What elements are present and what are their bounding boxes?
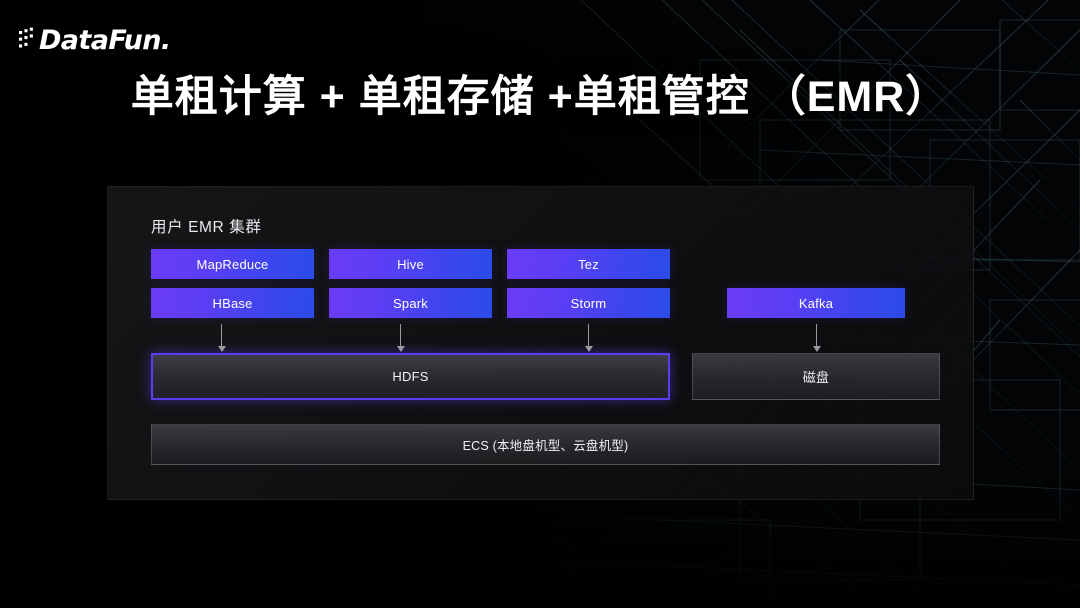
component-label: HBase [212, 296, 252, 311]
component-label: Tez [578, 257, 599, 272]
storage-box-hdfs[interactable]: HDFS [151, 353, 670, 400]
arrow-head [397, 346, 405, 352]
storage-box-disk[interactable]: 磁盘 [692, 353, 940, 400]
storage-label: HDFS [392, 369, 428, 384]
component-label: Kafka [799, 296, 833, 311]
panel-heading: 用户 EMR 集群 [151, 215, 261, 237]
component-box-spark[interactable]: Spark [329, 288, 492, 318]
arrow-shaft [588, 324, 589, 347]
infra-box-ecs[interactable]: ECS (本地盘机型、云盘机型) [151, 424, 940, 465]
slide-canvas: DataFun. 单租计算 + 单租存储 +单租管控 （EMR） 用户 EMR … [0, 0, 1080, 608]
component-box-mapreduce[interactable]: MapReduce [151, 249, 314, 279]
component-box-tez[interactable]: Tez [507, 249, 670, 279]
component-label: Storm [571, 296, 607, 311]
storage-label: 磁盘 [803, 367, 829, 386]
component-box-kafka[interactable]: Kafka [727, 288, 905, 318]
page-title: 单租计算 + 单租存储 +单租管控 （EMR） [0, 62, 1080, 124]
arrow-storm-to-hdfs [583, 324, 594, 352]
arrow-shaft [816, 324, 817, 347]
arrow-hbase-to-hdfs [216, 324, 227, 352]
arrow-kafka-to-disk [811, 324, 822, 352]
datafun-logo-text: DataFun. [39, 27, 171, 54]
component-label: MapReduce [197, 257, 269, 272]
arrow-shaft [221, 324, 222, 347]
arrow-spark-to-hdfs [395, 324, 406, 352]
component-box-storm[interactable]: Storm [507, 288, 670, 318]
component-box-hbase[interactable]: HBase [151, 288, 314, 318]
arrow-head [813, 346, 821, 352]
component-label: Hive [397, 257, 424, 272]
component-box-hive[interactable]: Hive [329, 249, 492, 279]
arrow-head [585, 346, 593, 352]
infra-label: ECS (本地盘机型、云盘机型) [463, 435, 629, 454]
arrow-shaft [400, 324, 401, 347]
component-label: Spark [393, 296, 428, 311]
emr-cluster-panel: 用户 EMR 集群 MapReduce Hive Tez HBase Spark… [107, 186, 974, 500]
datafun-dot-matrix-icon [18, 27, 38, 53]
arrow-head [218, 346, 226, 352]
datafun-logo: DataFun. [18, 20, 171, 60]
